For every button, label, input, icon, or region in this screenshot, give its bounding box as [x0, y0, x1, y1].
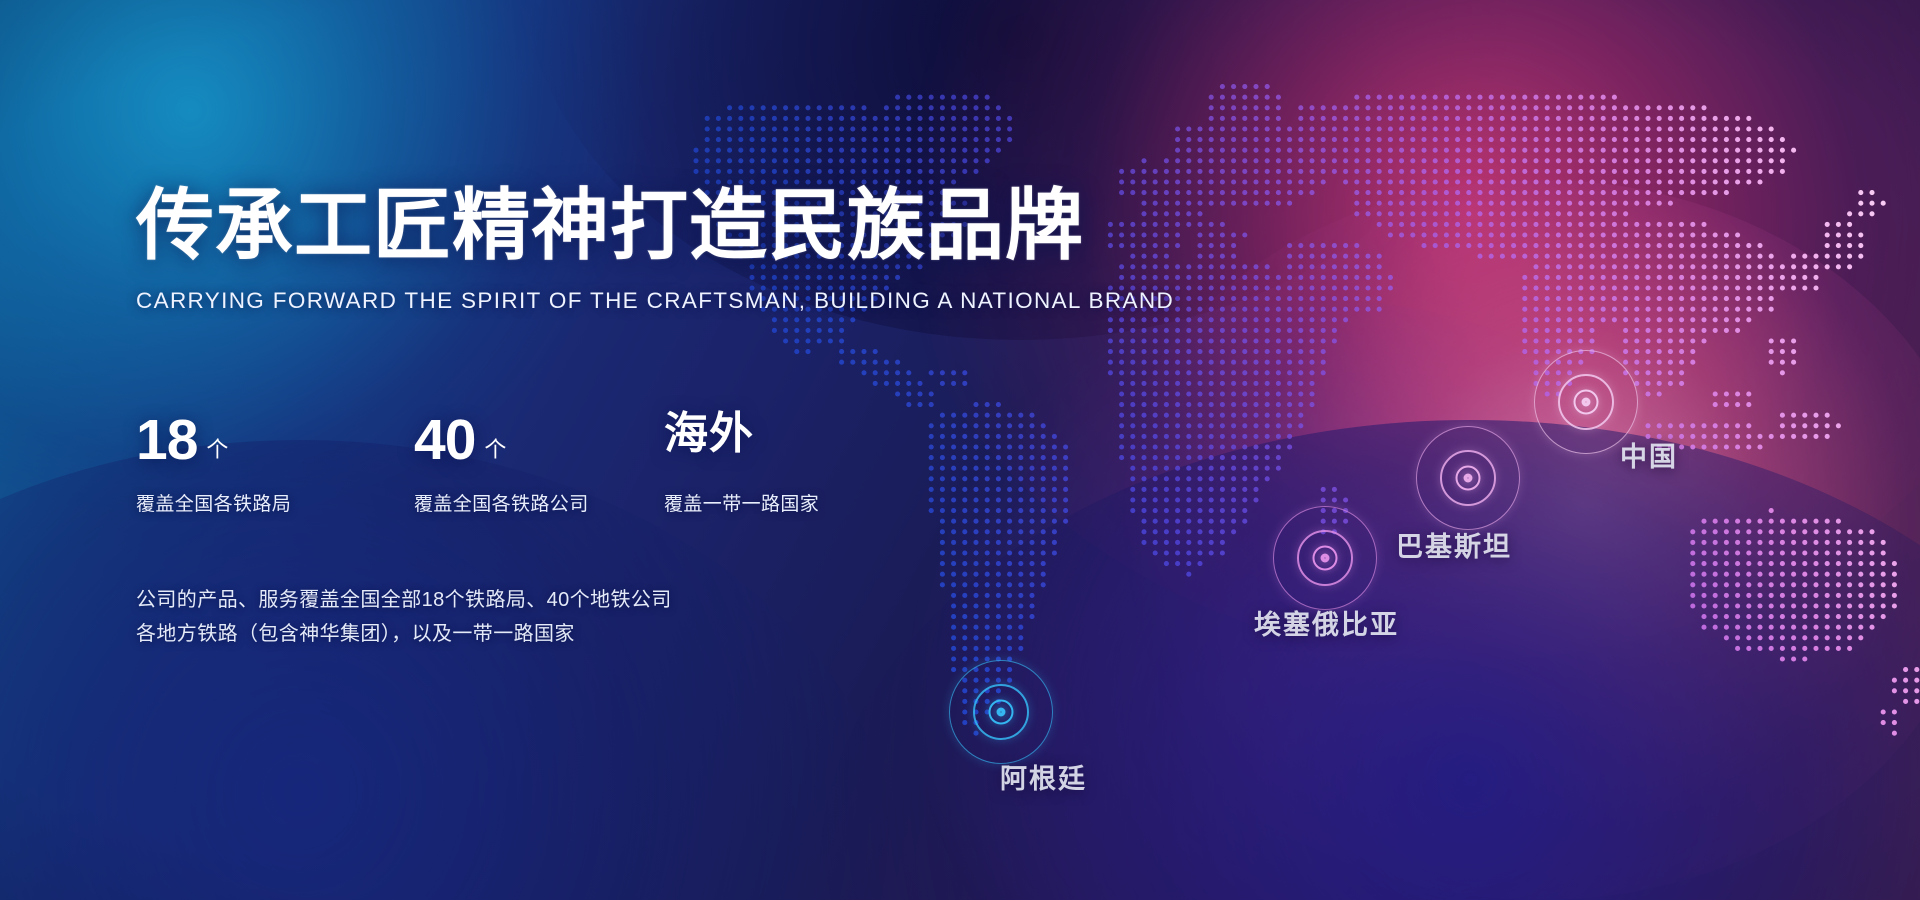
- stat-item-3: 海外覆盖一带一路国家: [664, 412, 914, 516]
- stat-description: 覆盖一带一路国家: [664, 489, 914, 516]
- stat-value-row: 海外: [664, 412, 914, 476]
- stat-description: 覆盖全国各铁路公司: [414, 489, 664, 516]
- stat-value: 海外: [664, 412, 754, 456]
- stat-value-row: 18个: [136, 412, 414, 476]
- stat-unit: 个: [206, 432, 228, 464]
- stat-item-1: 18个覆盖全国各铁路局: [136, 412, 414, 516]
- stat-unit: 个: [484, 432, 506, 464]
- stat-value: 18: [136, 412, 197, 469]
- stat-item-2: 40个覆盖全国各铁路公司: [414, 412, 664, 516]
- stat-description: 覆盖全国各铁路局: [136, 489, 414, 516]
- stat-value-row: 40个: [414, 412, 664, 476]
- description-line-1: 公司的产品、服务覆盖全国全部18个铁路局、40个地铁公司: [136, 583, 672, 617]
- page-subtitle: CARRYING FORWARD THE SPIRIT OF THE CRAFT…: [136, 288, 1116, 314]
- description-paragraph: 公司的产品、服务覆盖全国全部18个铁路局、40个地铁公司 各地方铁路（包含神华集…: [136, 583, 672, 652]
- stat-value: 40: [414, 412, 475, 469]
- description-line-2: 各地方铁路（包含神华集团），以及一带一路国家: [136, 617, 672, 651]
- stats-row: 18个覆盖全国各铁路局40个覆盖全国各铁路公司海外覆盖一带一路国家: [136, 412, 914, 516]
- hero-copy: 传承工匠精神打造民族品牌 CARRYING FORWARD THE SPIRIT…: [136, 186, 1116, 314]
- page-title: 传承工匠精神打造民族品牌: [136, 186, 1116, 266]
- hero-banner: 中国巴基斯坦埃塞俄比亚阿根廷 传承工匠精神打造民族品牌 CARRYING FOR…: [0, 0, 1920, 900]
